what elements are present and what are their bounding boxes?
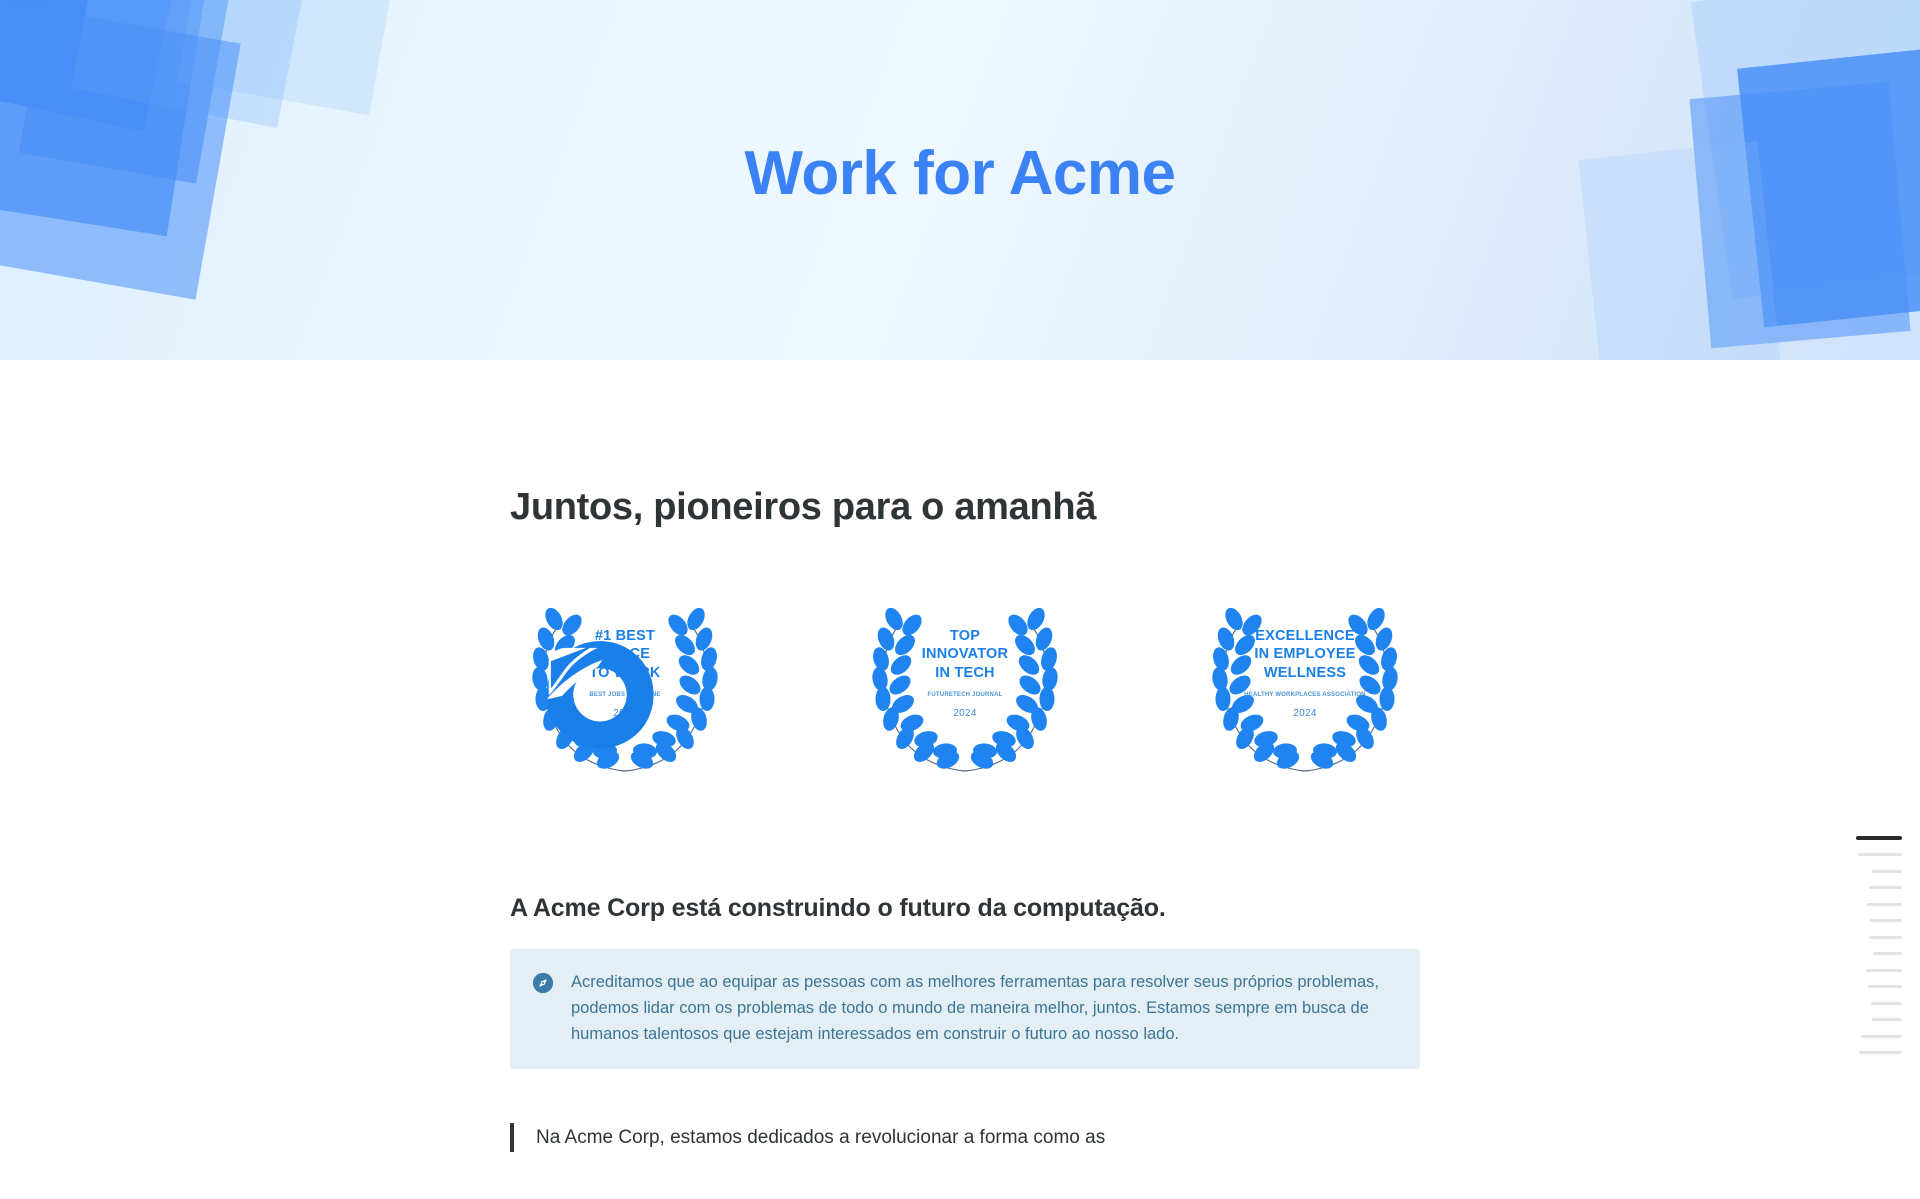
minimap-line[interactable] xyxy=(1868,985,1902,988)
award-badge-year: 2024 xyxy=(1228,708,1382,719)
section-subheading: A Acme Corp está construindo o futuro da… xyxy=(510,894,1420,923)
award-badge-title-line: TOP xyxy=(900,627,1030,646)
minimap-row[interactable] xyxy=(1842,962,1902,979)
compass-icon xyxy=(532,972,554,994)
hero-banner: Work for Acme xyxy=(0,0,1920,360)
award-badge-source: FUTURETECH JOURNAL xyxy=(900,691,1030,699)
minimap-row[interactable] xyxy=(1842,896,1902,913)
award-badge-text: TOP INNOVATOR IN TECH FUTURETECH JOURNAL… xyxy=(900,627,1030,720)
minimap-line[interactable] xyxy=(1858,853,1902,856)
award-badge-title-line: WELLNESS xyxy=(1228,664,1382,683)
minimap-row[interactable] xyxy=(1842,863,1902,880)
minimap-line[interactable] xyxy=(1859,1051,1902,1054)
quote-block: Na Acme Corp, estamos dedicados a revolu… xyxy=(510,1123,1420,1152)
award-badge-year: 2024 xyxy=(900,708,1030,719)
callout-box: Acreditamos que ao equipar as pessoas co… xyxy=(510,949,1420,1069)
award-badge: EXCELLENCE IN EMPLOYEE WELLNESS HEALTHY … xyxy=(1190,599,1420,774)
page-body: Juntos, pioneiros para o amanhã xyxy=(0,360,1920,1199)
minimap-row[interactable] xyxy=(1842,1028,1902,1045)
minimap-line-active[interactable] xyxy=(1856,836,1902,840)
award-badge-text: EXCELLENCE IN EMPLOYEE WELLNESS HEALTHY … xyxy=(1228,627,1382,720)
minimap-line[interactable] xyxy=(1867,903,1902,906)
award-badge-source: HEALTHY WORKPLACES ASSOCIATION xyxy=(1228,691,1382,699)
outline-minimap[interactable] xyxy=(1842,830,1902,1061)
minimap-row[interactable] xyxy=(1842,847,1902,864)
minimap-row[interactable] xyxy=(1842,880,1902,897)
minimap-row[interactable] xyxy=(1842,995,1902,1012)
minimap-row[interactable] xyxy=(1842,913,1902,930)
minimap-row[interactable] xyxy=(1842,929,1902,946)
page-title: Work for Acme xyxy=(0,138,1920,209)
minimap-row[interactable] xyxy=(1842,979,1902,996)
award-badge-title-line: IN TECH xyxy=(900,664,1030,683)
award-badge: TOP INNOVATOR IN TECH FUTURETECH JOURNAL… xyxy=(850,599,1080,774)
minimap-row[interactable] xyxy=(1842,946,1902,963)
minimap-row[interactable] xyxy=(1842,1045,1902,1062)
minimap-line[interactable] xyxy=(1872,1018,1902,1021)
award-badge-title-line: IN EMPLOYEE xyxy=(1228,645,1382,664)
award-badge-title-line: EXCELLENCE xyxy=(1228,627,1382,646)
minimap-line[interactable] xyxy=(1869,936,1902,939)
minimap-line[interactable] xyxy=(1869,886,1902,889)
award-badge-title: EXCELLENCE IN EMPLOYEE WELLNESS xyxy=(1228,627,1382,683)
minimap-line[interactable] xyxy=(1870,919,1902,922)
main-heading: Juntos, pioneiros para o amanhã xyxy=(510,485,1420,531)
acme-spiral-logo-icon xyxy=(530,630,670,755)
minimap-line[interactable] xyxy=(1866,969,1902,972)
minimap-line[interactable] xyxy=(1871,1002,1902,1005)
callout-text: Acreditamos que ao equipar as pessoas co… xyxy=(571,969,1394,1047)
content-column: Juntos, pioneiros para o amanhã xyxy=(510,360,1420,1152)
award-badge-title-line: INNOVATOR xyxy=(900,645,1030,664)
minimap-line[interactable] xyxy=(1872,870,1902,873)
award-badge-title: TOP INNOVATOR IN TECH xyxy=(900,627,1030,683)
minimap-line[interactable] xyxy=(1861,1035,1902,1038)
minimap-row[interactable] xyxy=(1842,1012,1902,1029)
minimap-row[interactable] xyxy=(1842,830,1902,847)
minimap-line[interactable] xyxy=(1873,952,1902,955)
